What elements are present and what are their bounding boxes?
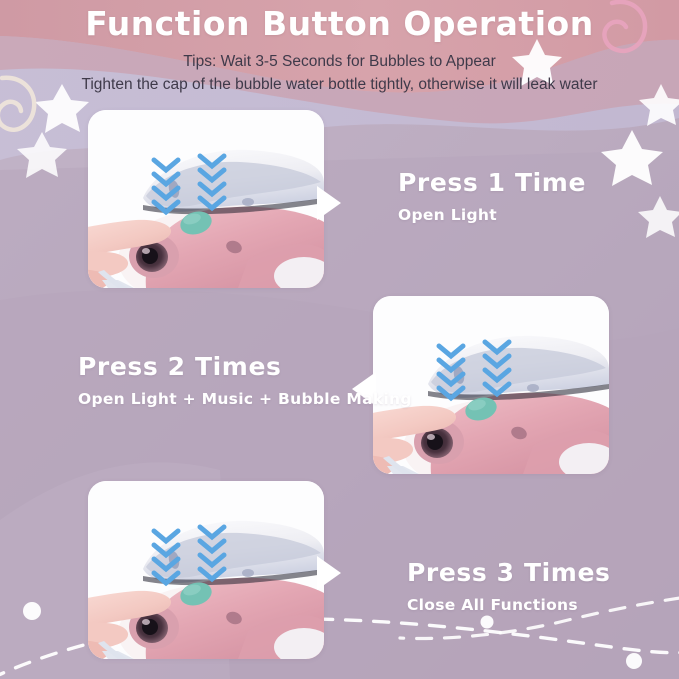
step-1-photo-panel bbox=[88, 110, 324, 288]
step-2-caption: Press 2 Times Open Light + Music + Bubbl… bbox=[78, 352, 412, 408]
step-1-arrow-right bbox=[317, 186, 341, 220]
step-1-sub-label: Open Light bbox=[398, 206, 586, 224]
step-3-sub-label: Close All Functions bbox=[407, 596, 610, 614]
step-1-caption: Press 1 Time Open Light bbox=[398, 168, 586, 224]
header: Function Button Operation Tips: Wait 3-5… bbox=[0, 0, 679, 96]
step-1-main-label: Press 1 Time bbox=[398, 168, 586, 197]
toy-illustration-3 bbox=[88, 481, 324, 659]
step-3-arrow-right bbox=[317, 556, 341, 590]
step-2-main-label: Press 2 Times bbox=[78, 352, 412, 381]
tip-line-2: Tighten the cap of the bubble water bott… bbox=[0, 74, 679, 96]
step-3-caption: Press 3 Times Close All Functions bbox=[407, 558, 610, 614]
step-3-main-label: Press 3 Times bbox=[407, 558, 610, 587]
step-3-photo-panel bbox=[88, 481, 324, 659]
page-title: Function Button Operation bbox=[0, 4, 679, 44]
toy-illustration-1 bbox=[88, 110, 324, 288]
tip-line-1: Tips: Wait 3-5 Seconds for Bubbles to Ap… bbox=[0, 51, 679, 73]
step-2-sub-label: Open Light + Music + Bubble Making bbox=[78, 390, 412, 408]
